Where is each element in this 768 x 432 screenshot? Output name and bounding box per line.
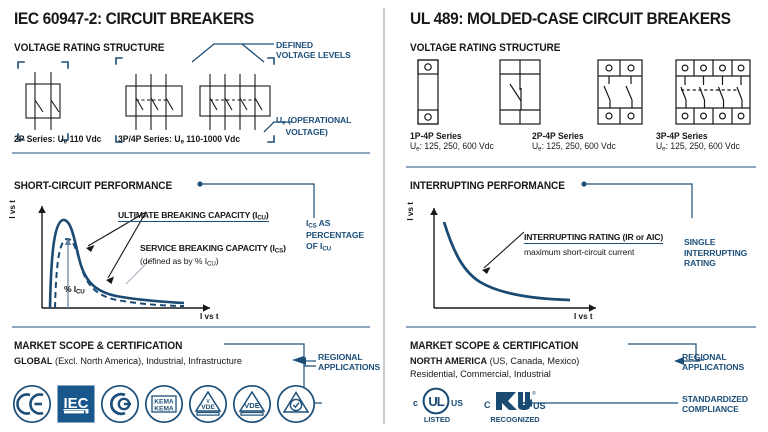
interrupting-annotation-arrow xyxy=(484,232,524,268)
infographic-page: IEC 60947-2: CIRCUIT BREAKERS VOLTAGE RA… xyxy=(0,0,768,432)
left-certification-badges: IEC KEMA KEMA V VDE xyxy=(12,384,316,424)
callout-standardized-compliance: STANDARDIZED COMPLIANCE xyxy=(682,394,748,414)
breaker-2p-symbol xyxy=(26,72,60,130)
svg-text:®: ® xyxy=(532,390,536,397)
left-panel-title: IEC 60947-2: CIRCUIT BREAKERS xyxy=(14,10,351,28)
svg-text:KEMA: KEMA xyxy=(154,399,174,406)
right-certification-badges: c UL US LISTED C US ® RECOGNIZED xyxy=(410,384,558,426)
caption-2p4p-series: 2P-4P Series Ue: 125, 250, 600 Vdc xyxy=(532,131,620,152)
svg-text:US: US xyxy=(533,401,546,411)
left-market-heading: MARKET SCOPE & CERTIFICATION xyxy=(14,340,191,352)
caption-2p-series: 2P Series: Ue 110 Vdc xyxy=(14,134,101,145)
x-axis-arrow xyxy=(589,304,596,312)
svg-text:C: C xyxy=(484,400,491,410)
right-chart-x-label: I vs t xyxy=(574,312,593,321)
left-voltage-heading: VOLTAGE RATING STRUCTURE xyxy=(14,42,172,54)
annotation-service-breaking-capacity: SERVICE BREAKING CAPACITY (ICS) (defined… xyxy=(140,243,286,268)
svg-text:RECOGNIZED: RECOGNIZED xyxy=(490,415,540,424)
vde-mark-icon[interactable]: VDE xyxy=(232,384,272,424)
left-section-rule-2 xyxy=(12,326,372,328)
breaker-3p-symbol xyxy=(126,74,182,130)
callout-regional-applications-left: REGIONAL APPLICATIONS xyxy=(318,352,380,372)
svg-text:LISTED: LISTED xyxy=(424,415,451,424)
ul-listed-mark-icon[interactable]: c UL US LISTED xyxy=(410,384,470,426)
breaker-4p-symbol xyxy=(672,58,754,126)
svg-text:c: c xyxy=(413,398,418,408)
ul-recognized-mark-icon[interactable]: C US ® RECOGNIZED xyxy=(482,384,558,426)
breaker-2p-terminals-symbol xyxy=(592,58,648,126)
svg-text:KEMA: KEMA xyxy=(154,406,174,413)
x-axis-arrow xyxy=(203,304,210,312)
right-market-scope-line1: NORTH AMERICA (US, Canada, Mexico) xyxy=(410,356,579,367)
rcm-mark-icon[interactable] xyxy=(276,384,316,424)
svg-text:VDE: VDE xyxy=(244,401,260,410)
label-percent-icu: % ICU xyxy=(64,284,85,296)
annotation-interrupting-rating: INTERRUPTING RATING (IR or AIC) maximum … xyxy=(524,227,663,257)
iec-mark-icon[interactable]: IEC xyxy=(56,384,96,424)
svg-text:UL: UL xyxy=(428,394,444,409)
right-performance-heading: INTERRUPTING PERFORMANCE xyxy=(410,180,573,192)
vde-v-mark-icon[interactable]: V VDE xyxy=(188,384,228,424)
caption-3p4p-series-right: 3P-4P Series Ue: 125, 250, 600 Vdc xyxy=(656,131,744,152)
right-section-rule-1 xyxy=(406,166,758,168)
caption-1p4p-series: 1P-4P Series Ue: 125, 250, 600 Vdc xyxy=(410,131,498,152)
callout-regional-applications-right: REGIONAL APPLICATIONS xyxy=(682,352,744,372)
left-section-rule-1 xyxy=(12,152,372,154)
right-voltage-heading: VOLTAGE RATING STRUCTURE xyxy=(410,42,568,54)
right-market-heading: MARKET SCOPE & CERTIFICATION xyxy=(410,340,587,352)
right-market-scope-line2: Residential, Commercial, Industrial xyxy=(410,369,551,380)
svg-text:VDE: VDE xyxy=(201,404,215,411)
kema-mark-icon[interactable]: KEMA KEMA xyxy=(144,384,184,424)
right-panel-title: UL 489: MOLDED-CASE CIRCUIT BREAKERS xyxy=(410,10,735,28)
ru-glyph xyxy=(496,392,530,410)
annotation-ultimate-breaking-capacity: ULTIMATE BREAKING CAPACITY (ICU) xyxy=(118,210,269,222)
right-section-rule-2 xyxy=(406,326,758,328)
callout-ics-percentage: ICS AS PERCENTAGE OF ICU xyxy=(306,218,364,253)
ccc-mark-icon[interactable] xyxy=(100,384,140,424)
callout-single-interrupting-rating: SINGLE INTERRUPTING RATING xyxy=(684,237,747,269)
callout-defined-voltage-levels: DEFINED VOLTAGE LEVELS xyxy=(276,40,351,60)
caption-3p4p-series: 3P/4P Series: Ue 110-1000 Vdc xyxy=(118,134,240,145)
breaker-2p-plain-symbol xyxy=(494,58,546,126)
svg-text:IEC: IEC xyxy=(63,395,88,412)
callout-ue-line1: Ue (OPERATIONAL xyxy=(276,115,351,127)
right-chart-y-label: I vs t xyxy=(406,202,415,221)
panel-ul: UL 489: MOLDED-CASE CIRCUIT BREAKERS VOL… xyxy=(384,0,768,432)
left-performance-heading: SHORT-CIRCUIT PERFORMANCE xyxy=(14,180,180,192)
svg-text:US: US xyxy=(451,398,463,408)
left-chart-y-label: I vs t xyxy=(8,200,17,219)
y-axis-arrow xyxy=(38,206,46,213)
left-market-arrow xyxy=(296,356,316,366)
ce-mark-icon[interactable] xyxy=(12,384,52,424)
panel-iec: IEC 60947-2: CIRCUIT BREAKERS VOLTAGE RA… xyxy=(0,0,384,432)
breaker-1p-symbol xyxy=(410,58,446,126)
y-axis-arrow xyxy=(430,208,438,215)
left-chart-x-label: I vs t xyxy=(200,312,219,321)
callout-ue-operational-voltage: Ue (OPERATIONAL VOLTAGE) xyxy=(276,115,351,137)
